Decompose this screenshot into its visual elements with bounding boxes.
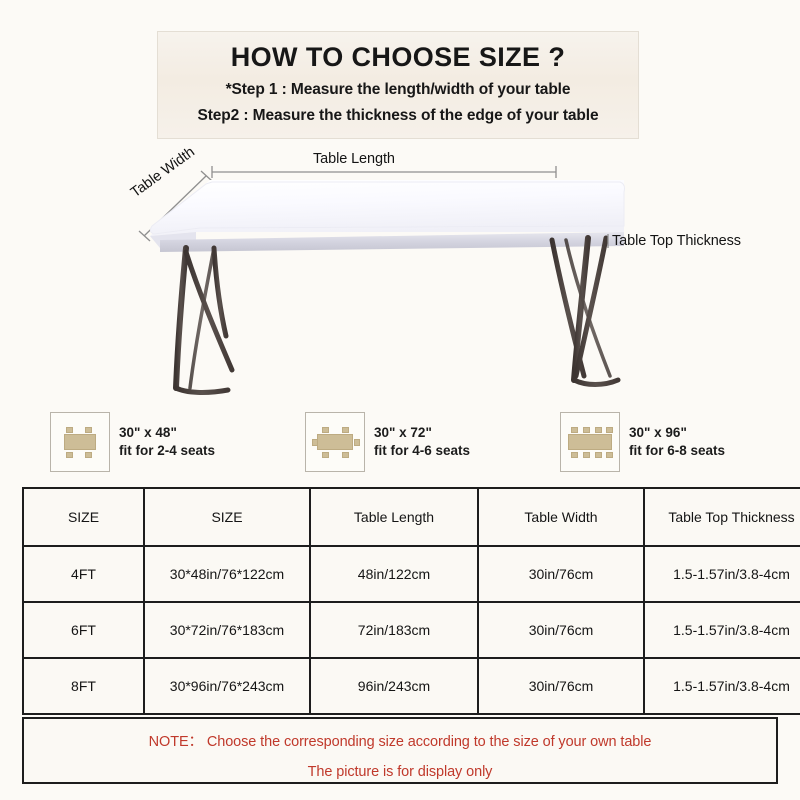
seat-marker [66, 452, 73, 458]
size-card-dimensions: 30" x 48" [119, 424, 215, 442]
cell-size-ft: 8FT [23, 658, 144, 714]
size-card-seating: fit for 2-4 seats [119, 442, 215, 460]
note-line-1: NOTE： Choose the corresponding size acco… [24, 730, 776, 751]
page-title: HOW TO CHOOSE SIZE ? [158, 42, 638, 73]
column-header-table-length: Table Length [310, 488, 478, 546]
thumb-tabletop [317, 434, 353, 450]
column-header-size-ft: SIZE [23, 488, 144, 546]
size-card-dimensions: 30" x 72" [374, 424, 470, 442]
cell-table-top-thickness: 1.5-1.57in/3.8-4cm [644, 602, 800, 658]
table-leg-right [552, 238, 618, 385]
note-box: NOTE： Choose the corresponding size acco… [22, 717, 778, 784]
seat-marker [85, 427, 92, 433]
seat-marker [595, 452, 602, 458]
header-step-1: *Step 1 : Measure the length/width of yo… [158, 81, 638, 99]
seat-marker [354, 439, 360, 446]
note-line-2: The picture is for display only [24, 764, 776, 780]
table-row: 8FT 30*96in/76*243cm 96in/243cm 30in/76c… [23, 658, 800, 714]
cell-table-width: 30in/76cm [478, 602, 644, 658]
seat-marker [606, 452, 613, 458]
table-leg-left [176, 248, 232, 392]
size-card[interactable]: 30" x 48" fit for 2-4 seats [50, 412, 215, 472]
label-table-length: Table Length [313, 151, 395, 167]
cell-table-length: 72in/183cm [310, 602, 478, 658]
seat-marker [66, 427, 73, 433]
header-banner: HOW TO CHOOSE SIZE ? *Step 1 : Measure t… [158, 32, 638, 138]
cell-table-top-thickness: 1.5-1.57in/3.8-4cm [644, 546, 800, 602]
seat-marker [606, 427, 613, 433]
cell-table-width: 30in/76cm [478, 658, 644, 714]
seat-marker [312, 439, 318, 446]
cell-table-width: 30in/76cm [478, 546, 644, 602]
size-card[interactable]: 30" x 72" fit for 4-6 seats [305, 412, 470, 472]
dimension-line-length [212, 166, 556, 178]
table-header-row: SIZE SIZE Table Length Table Width Table… [23, 488, 800, 546]
size-card-text: 30" x 48" fit for 2-4 seats [119, 424, 215, 460]
seat-marker [583, 427, 590, 433]
table-row: 4FT 30*48in/76*122cm 48in/122cm 30in/76c… [23, 546, 800, 602]
cell-size-dims: 30*96in/76*243cm [144, 658, 310, 714]
size-thumbnail-30x96 [560, 412, 620, 472]
cell-table-top-thickness: 1.5-1.57in/3.8-4cm [644, 658, 800, 714]
cell-size-dims: 30*48in/76*122cm [144, 546, 310, 602]
seat-marker [571, 452, 578, 458]
size-card-text: 30" x 96" fit for 6-8 seats [629, 424, 725, 460]
size-card-text: 30" x 72" fit for 4-6 seats [374, 424, 470, 460]
cell-size-ft: 4FT [23, 546, 144, 602]
seat-marker [322, 452, 329, 458]
seat-marker [571, 427, 578, 433]
size-card-seating: fit for 6-8 seats [629, 442, 725, 460]
seat-marker [595, 427, 602, 433]
label-table-top-thickness: Table Top Thickness [612, 233, 741, 249]
column-header-table-width: Table Width [478, 488, 644, 546]
cell-size-ft: 6FT [23, 602, 144, 658]
size-card-list: 30" x 48" fit for 2-4 seats 30" x 72" fi… [0, 412, 800, 474]
size-thumbnail-30x48 [50, 412, 110, 472]
seat-marker [342, 427, 349, 433]
seat-marker [322, 427, 329, 433]
table-top-surface-inner [150, 182, 624, 234]
thumb-tabletop [568, 434, 612, 450]
table-row: 6FT 30*72in/76*183cm 72in/183cm 30in/76c… [23, 602, 800, 658]
size-card[interactable]: 30" x 96" fit for 6-8 seats [560, 412, 725, 472]
size-card-seating: fit for 4-6 seats [374, 442, 470, 460]
seat-marker [85, 452, 92, 458]
thumb-tabletop [64, 434, 96, 450]
column-header-size-dims: SIZE [144, 488, 310, 546]
cell-table-length: 96in/243cm [310, 658, 478, 714]
column-header-table-top-thickness: Table Top Thickness [644, 488, 800, 546]
table-illustration: Table Length Table Width Table Top Thick… [0, 140, 800, 405]
size-card-dimensions: 30" x 96" [629, 424, 725, 442]
cell-table-length: 48in/122cm [310, 546, 478, 602]
cell-size-dims: 30*72in/76*183cm [144, 602, 310, 658]
header-step-2: Step2 : Measure the thickness of the edg… [158, 107, 638, 125]
seat-marker [342, 452, 349, 458]
size-thumbnail-30x72 [305, 412, 365, 472]
seat-marker [583, 452, 590, 458]
size-spec-table: SIZE SIZE Table Length Table Width Table… [22, 487, 800, 715]
folding-table-graphic [0, 140, 800, 405]
